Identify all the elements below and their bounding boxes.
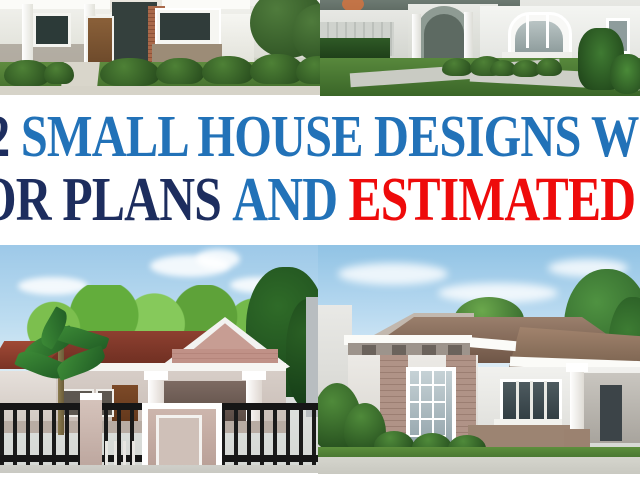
- shrub: [100, 58, 160, 86]
- hedge: [320, 38, 390, 60]
- cloud: [338, 263, 448, 285]
- shrub: [156, 58, 204, 84]
- window-mullion: [526, 14, 529, 48]
- window-mullion: [516, 381, 519, 419]
- window: [33, 13, 71, 47]
- house-photo-bottom-right: [318, 243, 640, 480]
- porch-column: [412, 14, 421, 64]
- headline-line2-cost: ESTIMATED C: [348, 166, 640, 234]
- picture-window-grid: [408, 369, 446, 439]
- house-photo-top-right: [320, 0, 640, 104]
- porch-column: [464, 12, 473, 64]
- window-mullion: [530, 381, 533, 419]
- headline-line1-main: SMALL HOUSE DESIGNS WITH: [21, 103, 640, 169]
- house-photo-top-left: [0, 0, 320, 104]
- neighbour-building: [306, 297, 318, 417]
- video-thumbnail: 2SMALL HOUSE DESIGNS WITH OR PLANSANDEST…: [0, 0, 640, 480]
- column-base: [564, 429, 590, 447]
- shrub: [202, 56, 254, 84]
- porch-column: [22, 4, 33, 62]
- headline-line-1: 2SMALL HOUSE DESIGNS WITH: [0, 104, 640, 168]
- photo-bottom-fade: [318, 474, 640, 480]
- cloud: [196, 249, 240, 269]
- soffit-vent: [422, 345, 436, 355]
- house-photo-bottom-left: [0, 243, 318, 480]
- soffit-vent: [392, 345, 406, 355]
- shrub: [536, 58, 562, 76]
- headline-line2-floorplans: OR PLANS: [0, 166, 221, 234]
- side-door: [600, 385, 622, 441]
- shrub: [296, 56, 320, 84]
- soffit-vent: [448, 345, 462, 355]
- soffit-vent: [362, 345, 376, 355]
- arched-entry-recess: [424, 14, 464, 62]
- photo-bottom-fade: [0, 473, 318, 480]
- shrub: [44, 62, 74, 84]
- headline-line2-and: AND: [232, 166, 337, 234]
- photo-row-bottom: [0, 243, 640, 480]
- headline-band: 2SMALL HOUSE DESIGNS WITH OR PLANSANDEST…: [0, 101, 640, 245]
- column-capital: [566, 363, 588, 372]
- window-mullion: [546, 14, 549, 48]
- front-door: [86, 16, 114, 66]
- column-capital: [242, 371, 266, 380]
- column-capital: [144, 371, 168, 380]
- plant: [610, 54, 640, 94]
- headline-line-2: OR PLANSANDESTIMATED C: [0, 166, 640, 234]
- shrub: [442, 58, 472, 76]
- bay-window-glass: [160, 13, 210, 40]
- photo-row-top: [0, 0, 640, 104]
- headline-line1-count: 2: [0, 103, 9, 169]
- window-mullion: [544, 381, 547, 419]
